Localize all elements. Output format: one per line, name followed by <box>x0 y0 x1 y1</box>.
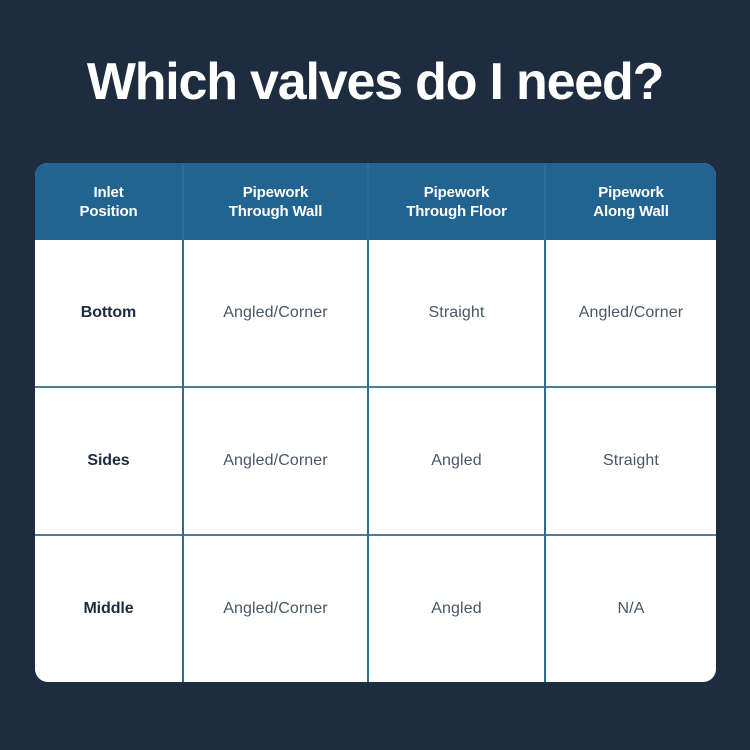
cell-bottom-through-wall: Angled/Corner <box>183 240 368 387</box>
cell-bottom-through-floor: Straight <box>368 240 545 387</box>
header-row: Inlet Position Pipework Through Wall Pip… <box>35 163 716 240</box>
table-header: Inlet Position Pipework Through Wall Pip… <box>35 163 716 240</box>
cell-sides-through-floor: Angled <box>368 387 545 534</box>
cell-middle-through-wall: Angled/Corner <box>183 535 368 682</box>
header-line-1: Inlet <box>93 184 123 201</box>
table-row: Sides Angled/Corner Angled Straight <box>35 387 716 534</box>
column-header-pipework-along-wall: Pipework Along Wall <box>545 163 716 240</box>
cell-sides-along-wall: Straight <box>545 387 716 534</box>
page-title: Which valves do I need? <box>0 52 750 112</box>
column-header-pipework-through-floor: Pipework Through Floor <box>368 163 545 240</box>
header-line-2: Along Wall <box>593 203 668 220</box>
row-label-middle: Middle <box>35 535 183 682</box>
column-header-inlet-position: Inlet Position <box>35 163 183 240</box>
header-line-1: Pipework <box>243 184 309 201</box>
header-line-1: Pipework <box>424 184 490 201</box>
infographic-page: Which valves do I need? Inlet Position P… <box>0 0 750 750</box>
row-label-bottom: Bottom <box>35 240 183 387</box>
header-line-2: Through Wall <box>229 203 322 220</box>
header-line-2: Through Floor <box>406 203 507 220</box>
table-grid: Inlet Position Pipework Through Wall Pip… <box>35 163 716 682</box>
table-row: Middle Angled/Corner Angled N/A <box>35 535 716 682</box>
cell-middle-along-wall: N/A <box>545 535 716 682</box>
table-body: Bottom Angled/Corner Straight Angled/Cor… <box>35 240 716 682</box>
table-row: Bottom Angled/Corner Straight Angled/Cor… <box>35 240 716 387</box>
header-line-1: Pipework <box>598 184 664 201</box>
valve-selection-table: Inlet Position Pipework Through Wall Pip… <box>35 163 716 682</box>
cell-middle-through-floor: Angled <box>368 535 545 682</box>
row-label-sides: Sides <box>35 387 183 534</box>
column-header-pipework-through-wall: Pipework Through Wall <box>183 163 368 240</box>
cell-bottom-along-wall: Angled/Corner <box>545 240 716 387</box>
cell-sides-through-wall: Angled/Corner <box>183 387 368 534</box>
header-line-2: Position <box>80 203 138 220</box>
